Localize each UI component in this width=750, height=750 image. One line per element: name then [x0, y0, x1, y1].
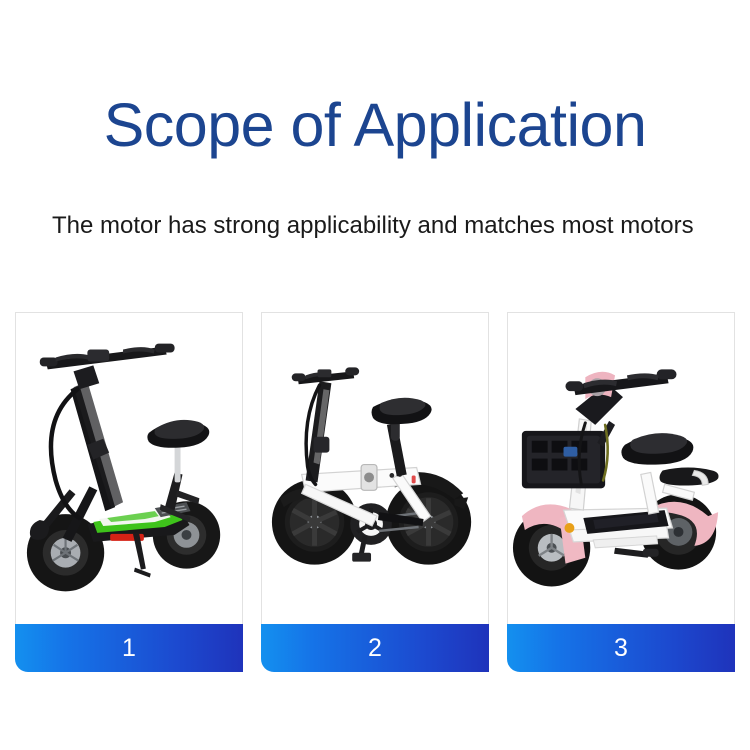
product-photo-2	[261, 312, 489, 624]
product-photo-1	[15, 312, 243, 624]
product-card-label-3: 3	[507, 624, 735, 672]
electric-scooter-illustration	[16, 313, 242, 624]
folding-electric-bicycle-illustration	[262, 313, 488, 624]
scope-of-application-page: Scope of Application The motor has stron…	[0, 0, 750, 750]
page-description: The motor has strong applicability and m…	[52, 202, 716, 250]
electric-moped-illustration	[508, 313, 734, 624]
product-card-2[interactable]: 2	[261, 312, 489, 672]
product-card-1[interactable]: 1	[15, 312, 243, 672]
product-card-number-2: 2	[368, 634, 382, 663]
product-card-number-3: 3	[614, 634, 628, 663]
product-photo-3	[507, 312, 735, 624]
product-card-3[interactable]: 3	[507, 312, 735, 672]
product-card-label-1: 1	[15, 624, 243, 672]
page-title: Scope of Application	[0, 89, 750, 161]
product-gallery: 1	[15, 312, 735, 672]
product-card-label-2: 2	[261, 624, 489, 672]
product-card-number-1: 1	[122, 634, 136, 663]
